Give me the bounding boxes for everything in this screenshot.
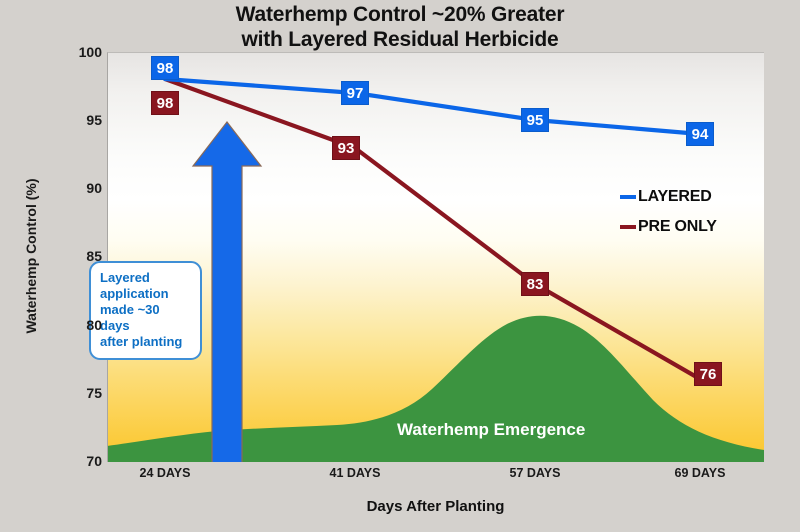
legend-swatch-layered-icon <box>620 195 636 199</box>
x-tick-24-days: 24 DAYS <box>105 466 225 480</box>
y-tick-70: 70 <box>56 453 102 469</box>
data-label-layered-1: 97 <box>341 81 369 105</box>
data-label-pre-only-0: 98 <box>151 91 179 115</box>
chart-container: Waterhemp Control ~20% Greater with Laye… <box>0 0 800 532</box>
callout-line-1: Layered <box>100 270 192 286</box>
legend-item-layered: LAYERED <box>620 182 780 212</box>
data-label-pre-only-3: 76 <box>694 362 722 386</box>
chart-title-line-2: with Layered Residual Herbicide <box>0 27 800 52</box>
x-tick-41-days: 41 DAYS <box>295 466 415 480</box>
legend-label-layered: LAYERED <box>638 188 712 206</box>
y-tick-75: 75 <box>56 385 102 401</box>
y-axis-ticks: 100 95 90 85 80 75 70 <box>42 0 102 532</box>
chart-title: Waterhemp Control ~20% Greater with Laye… <box>0 2 800 52</box>
legend-label-pre-only: PRE ONLY <box>638 218 717 236</box>
chart-legend: LAYERED PRE ONLY <box>620 182 780 242</box>
data-label-layered-2: 95 <box>521 108 549 132</box>
callout-line-4: after planting <box>100 334 192 350</box>
x-axis-title: Days After Planting <box>107 498 764 515</box>
layered-application-callout: Layered application made ~30 days after … <box>89 261 202 360</box>
data-label-pre-only-1: 93 <box>332 136 360 160</box>
chart-title-line-1: Waterhemp Control ~20% Greater <box>0 2 800 27</box>
y-tick-95: 95 <box>56 112 102 128</box>
legend-item-pre-only: PRE ONLY <box>620 212 780 242</box>
callout-line-3: made ~30 days <box>100 302 192 334</box>
y-tick-80: 80 <box>56 317 102 333</box>
emergence-band-label: Waterhemp Emergence <box>397 420 585 440</box>
y-axis-title: Waterhemp Control (%) <box>23 126 39 386</box>
y-tick-85: 85 <box>56 248 102 264</box>
y-tick-90: 90 <box>56 180 102 196</box>
y-tick-100: 100 <box>56 44 102 60</box>
data-label-layered-3: 94 <box>686 122 714 146</box>
callout-line-2: application <box>100 286 192 302</box>
plot-area: Waterhemp Emergence <box>107 52 764 462</box>
x-tick-69-days: 69 DAYS <box>640 466 760 480</box>
data-label-layered-0: 98 <box>151 56 179 80</box>
series-svg <box>107 52 764 462</box>
x-tick-57-days: 57 DAYS <box>475 466 595 480</box>
data-label-pre-only-2: 83 <box>521 272 549 296</box>
legend-swatch-pre-only-icon <box>620 225 636 229</box>
